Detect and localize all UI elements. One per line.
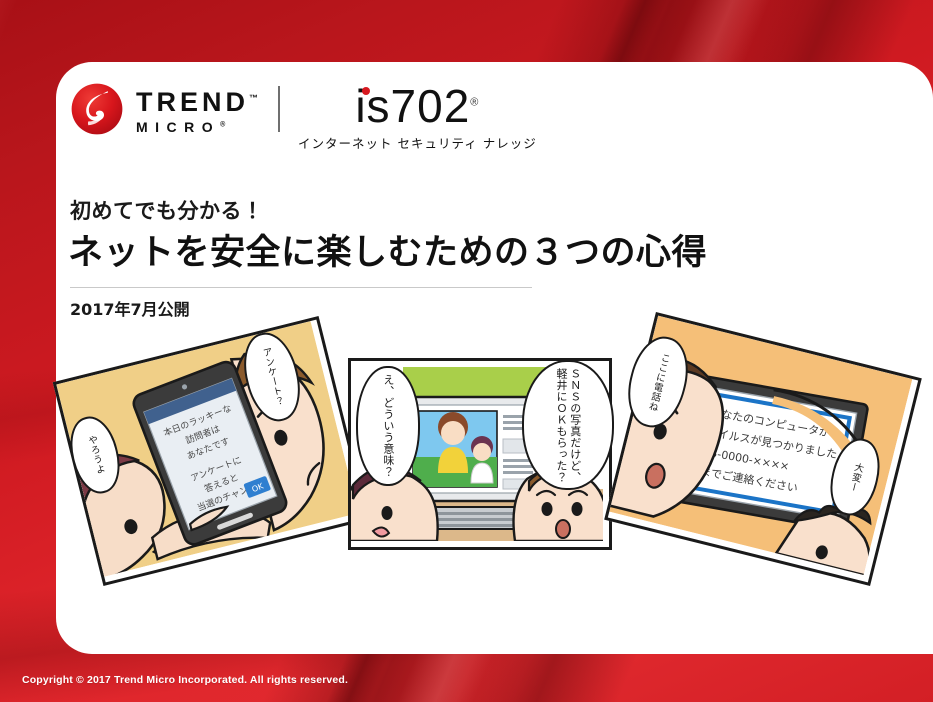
wordmark-trend: TREND™ — [136, 89, 258, 116]
content-card: TREND™ MICRO® is702® インターネット セキュリティ ナレッジ… — [56, 62, 933, 654]
registered-symbol: ® — [220, 121, 225, 128]
vertical-divider — [278, 86, 280, 132]
slide-canvas: TREND™ MICRO® is702® インターネット セキュリティ ナレッジ… — [0, 0, 933, 702]
registered-symbol: ® — [470, 97, 479, 109]
product-wordmark-is702: is702® — [355, 82, 479, 130]
page-title: ネットを安全に楽しむための３つの心得 — [68, 224, 707, 275]
kicker-text: 初めてでも分かる！ — [70, 195, 264, 225]
comic-strip: 本日のラッキーな 訪問者は あなたです アンケートに 答えると 当選のチャンス … — [56, 330, 933, 640]
bubble-sns-photo: ＳＮＳの写真だけど、軽井にＯＫもらった？ — [522, 360, 614, 490]
product-brand: is702® インターネット セキュリティ ナレッジ — [298, 82, 537, 152]
bubble-dou-iu-imi: え、どういう意味？ — [356, 366, 420, 486]
brand-lockup: TREND™ MICRO® is702® インターネット セキュリティ ナレッジ — [70, 82, 537, 152]
trademark-symbol: ™ — [249, 93, 258, 103]
title-divider — [70, 287, 532, 288]
trend-micro-wordmark: TREND™ MICRO® — [136, 89, 258, 134]
brand-tagline: インターネット セキュリティ ナレッジ — [298, 133, 537, 152]
publish-date: 2017年7月公開 — [70, 296, 190, 320]
copyright-footer: Copyright © 2017 Trend Micro Incorporate… — [22, 674, 348, 686]
wordmark-micro: MICRO® — [136, 120, 258, 134]
trend-micro-swirl-icon — [70, 82, 124, 136]
